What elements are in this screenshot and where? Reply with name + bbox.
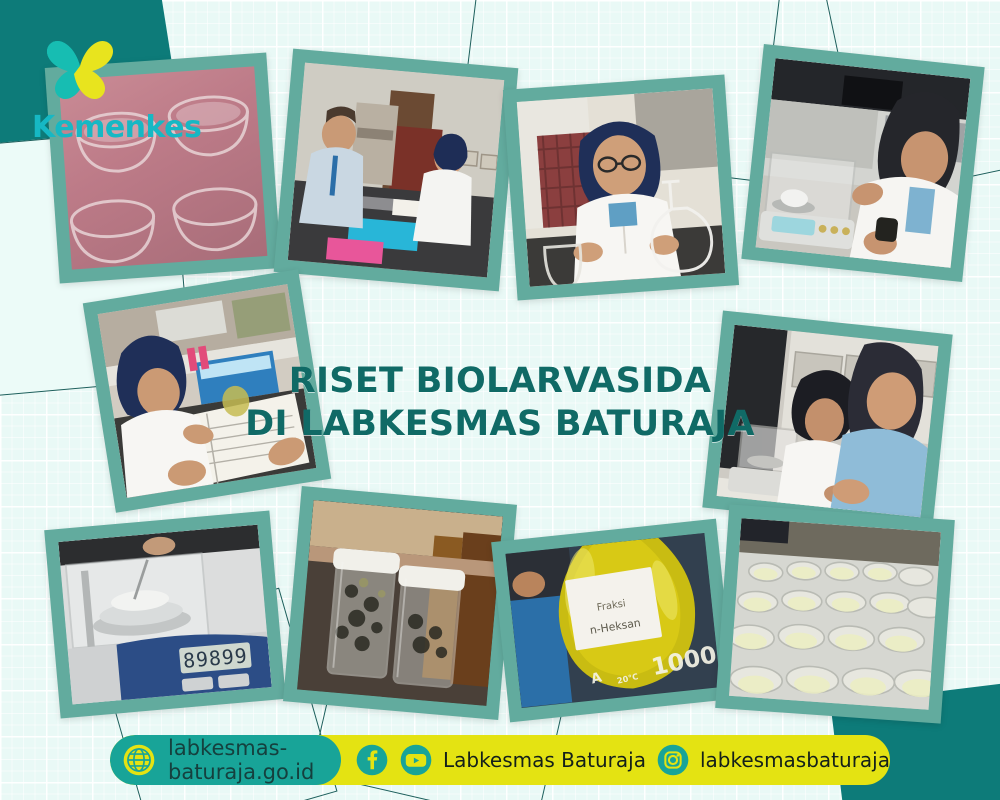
website-pill[interactable]: labkesmas-baturaja.go.id <box>110 735 341 785</box>
social-handle-label: Labkesmas Baturaja <box>443 748 646 772</box>
balance <box>758 152 861 250</box>
specimen-jars-illustration <box>297 500 503 706</box>
balance-display-illustration: 89899 <box>58 525 271 705</box>
instagram-icon[interactable] <box>656 743 690 777</box>
kemenkes-logo-text: Kemenkes <box>32 110 201 145</box>
page-title: RISET BIOLARVASIDA DI LABKESMAS BATURAJA <box>0 360 1000 445</box>
photo-lab-consultation <box>274 49 519 292</box>
photo-analytical-balance-display: 89899 <box>44 511 286 719</box>
facebook-icon[interactable] <box>355 743 389 777</box>
photo-specimen-jars <box>283 486 517 720</box>
photo-image <box>297 500 503 706</box>
title-line-2: DI LABKESMAS BATURAJA <box>0 403 1000 446</box>
photo-image: 89899 <box>58 525 271 705</box>
photo-image <box>729 518 941 710</box>
photo-image: Fraksi n-Heksan A 1000 20°C <box>505 533 720 708</box>
flask-illustration: Fraksi n-Heksan A 1000 20°C <box>505 533 720 708</box>
youtube-icon[interactable] <box>399 743 433 777</box>
researcher-flask-illustration <box>517 88 725 286</box>
photo-image <box>517 88 725 286</box>
footer-contact-bar: labkesmas-baturaja.go.id Labkesmas Batur… <box>110 735 890 785</box>
photo-image <box>288 63 504 278</box>
instagram-handle-label: labkesmasbaturaja <box>700 748 890 772</box>
kemenkes-logo: Kemenkes <box>18 22 188 142</box>
globe-icon <box>122 743 156 777</box>
photo-weighing-sample <box>741 44 984 282</box>
photo-researcher-flask <box>503 75 739 301</box>
photo-image <box>756 58 971 267</box>
title-line-1: RISET BIOLARVASIDA <box>0 360 1000 403</box>
photo-sample-cups-array <box>715 504 955 723</box>
website-label: labkesmas-baturaja.go.id <box>168 736 319 784</box>
photo-flask-n-heksan: Fraksi n-Heksan A 1000 20°C <box>491 519 735 723</box>
poster-canvas: 89899 <box>0 0 1000 800</box>
lab-consultation-illustration <box>288 63 504 278</box>
weighing-illustration <box>756 58 971 267</box>
sample-cups-illustration <box>729 518 941 710</box>
social-links-group: Labkesmas Baturaja labkesmasbaturaja <box>341 743 890 777</box>
kemenkes-mark-icon <box>18 22 158 122</box>
